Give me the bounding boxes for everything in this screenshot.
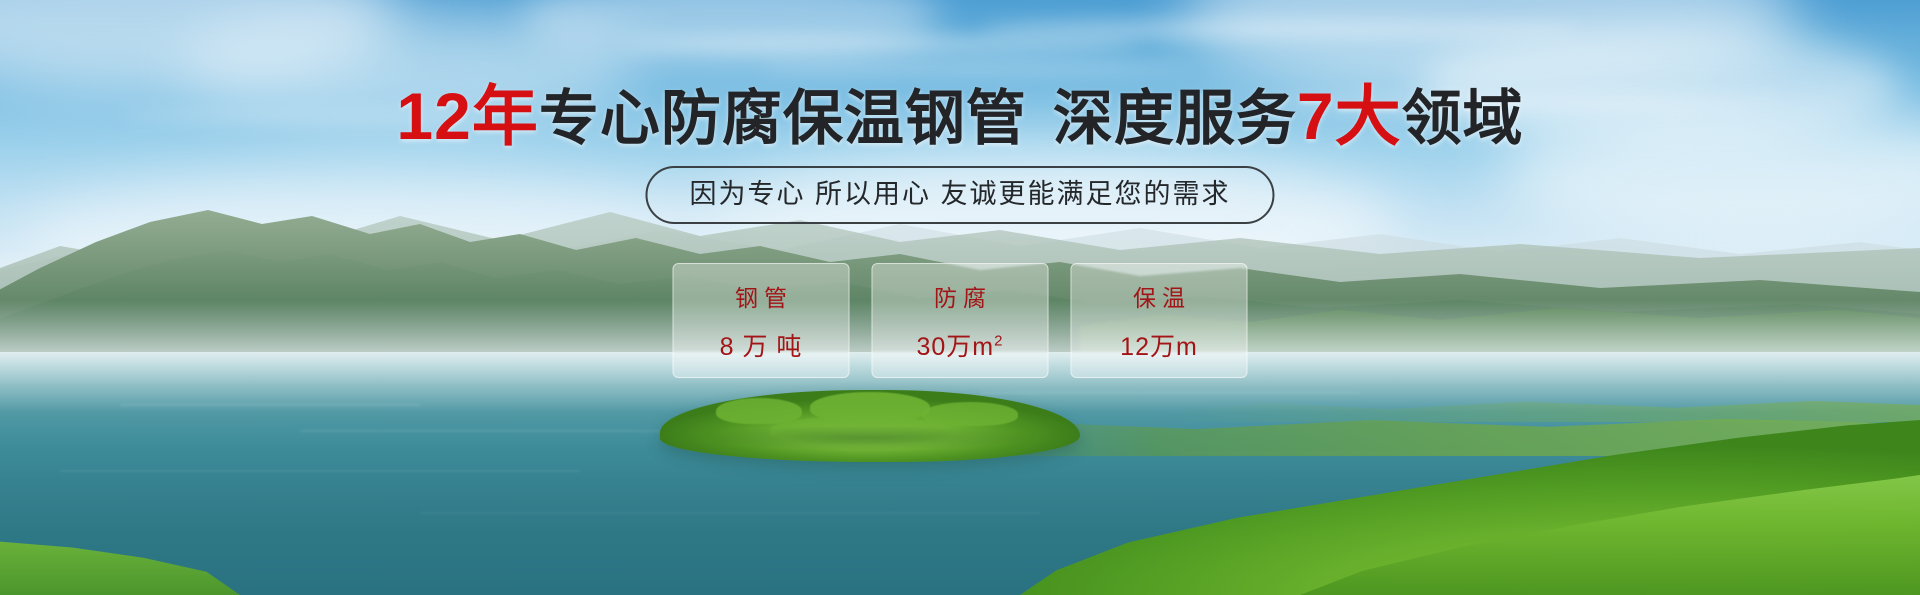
hero-banner: 12年专心防腐保温钢管深度服务7大领域 因为专心 所以用心 友诚更能满足您的需求… [0, 0, 1920, 595]
stat-card-title: 防腐 [928, 279, 992, 313]
subtitle-pill: 因为专心 所以用心 友诚更能满足您的需求 [645, 166, 1274, 224]
stat-card-anticorrosion: 防腐 30万m2 [872, 263, 1049, 378]
stat-card-value: 12万m [1120, 327, 1198, 363]
stat-cards: 钢管 8 万 吨 防腐 30万m2 保温 12万m [673, 263, 1248, 378]
stat-card-value: 30万m2 [917, 327, 1004, 363]
headline-years-unit: 年 [472, 79, 539, 153]
stat-card-value: 8 万 吨 [720, 327, 803, 363]
headline-years-number: 12 [396, 79, 471, 153]
stat-card-value-superscript: 2 [994, 332, 1003, 349]
headline-main-text: 专心防腐保温钢管 [539, 85, 1027, 152]
stat-card-value-text: 12万m [1120, 333, 1198, 361]
headline-fields-unit: 大 [1335, 79, 1402, 153]
headline: 12年专心防腐保温钢管深度服务7大领域 [0, 82, 1920, 153]
stat-card-title: 保温 [1127, 279, 1191, 313]
headline-service-text: 深度服务 [1053, 85, 1297, 152]
stat-card-steel-pipe: 钢管 8 万 吨 [673, 263, 850, 378]
headline-fields-tail: 领域 [1402, 85, 1524, 152]
stat-card-insulation: 保温 12万m [1071, 263, 1248, 378]
headline-fields-number: 7 [1297, 79, 1335, 153]
stat-card-value-text: 30万m [917, 333, 995, 361]
stat-card-title: 钢管 [729, 279, 793, 313]
stat-card-value-text: 8 万 吨 [720, 333, 803, 361]
